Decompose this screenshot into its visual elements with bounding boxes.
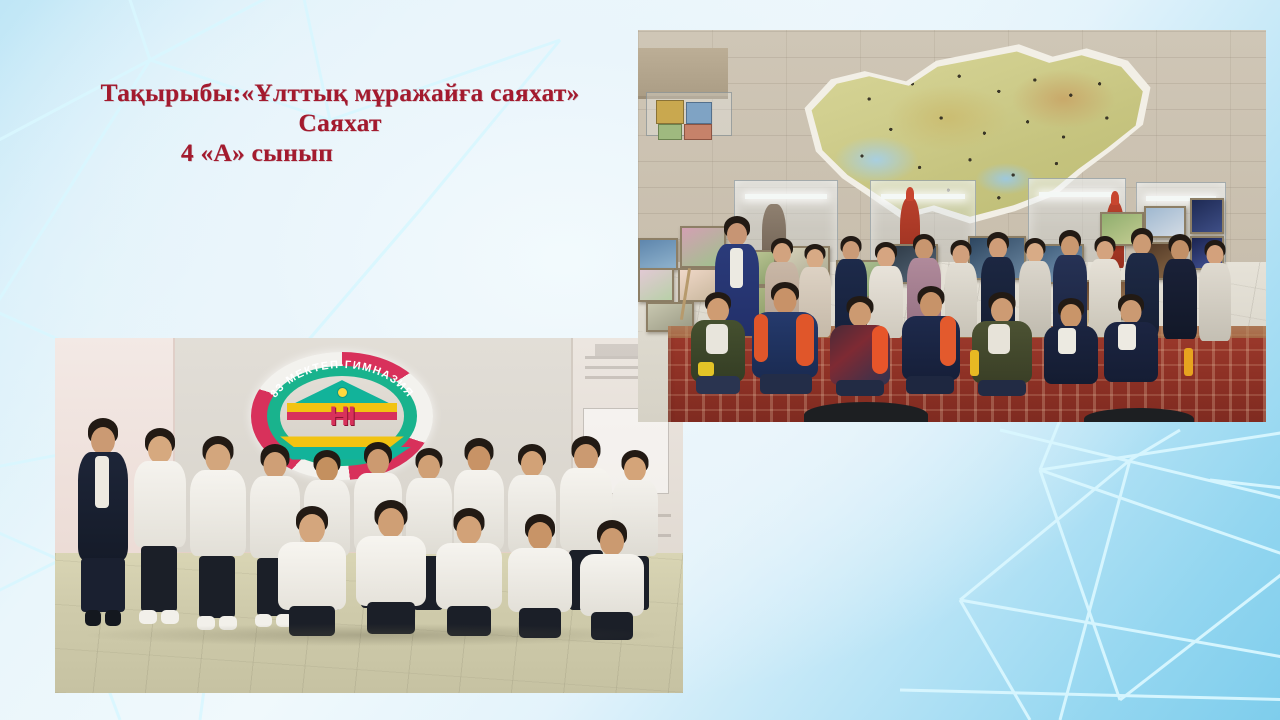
student-front-1	[690, 292, 746, 392]
museum-painting-1	[638, 238, 678, 270]
museum-painting-13	[1190, 198, 1224, 234]
presentation-slide: Тақырыбы:«Ұлттық мұражайға саяхат» Саяха…	[0, 0, 1280, 720]
title-line-1: Тақырыбы:«Ұлттық мұражайға саяхат»	[60, 78, 620, 108]
student-front-5	[970, 292, 1034, 394]
balcony-artwork-3	[658, 124, 682, 140]
student-front-7	[1102, 294, 1160, 394]
balcony-artwork-1	[656, 100, 684, 124]
school-teacher	[77, 418, 129, 628]
emblem-roof-dot	[337, 387, 348, 398]
yellow-bag-prop	[698, 362, 714, 376]
museum-excursion-photo[interactable]	[638, 30, 1266, 422]
school-student-front-1	[277, 506, 347, 638]
student-front-3	[828, 296, 892, 394]
school-student-back-1	[133, 428, 187, 632]
school-group-photo[interactable]: 83 МЕКТЕП-ГИМНАЗИЯ НІ	[55, 338, 683, 693]
foreground-dark-object-1	[804, 402, 928, 422]
museum-painting-3	[638, 268, 674, 302]
title-line-3: 4 «А» сынып	[60, 138, 620, 168]
juice-bottle-1	[970, 350, 979, 376]
school-student-back-2	[189, 436, 247, 636]
student-front-4	[900, 286, 962, 394]
balcony-artwork-4	[684, 124, 712, 140]
emblem-letters: НІ	[311, 403, 373, 436]
school-floor-shadow	[85, 624, 663, 646]
balcony-artwork-2	[686, 102, 712, 124]
school-student-front-2	[355, 500, 427, 636]
school-student-front-4	[507, 514, 573, 640]
student-back-12	[1198, 240, 1232, 340]
juice-bottle-2	[1184, 348, 1193, 376]
school-student-front-3	[435, 508, 503, 638]
teacher-in-dark-uniform	[1162, 234, 1198, 338]
title-line-2: Саяхат	[60, 108, 620, 138]
student-front-6	[1042, 298, 1100, 394]
slide-title: Тақырыбы:«Ұлттық мұражайға саяхат» Саяха…	[60, 78, 620, 167]
student-front-2	[750, 282, 820, 394]
